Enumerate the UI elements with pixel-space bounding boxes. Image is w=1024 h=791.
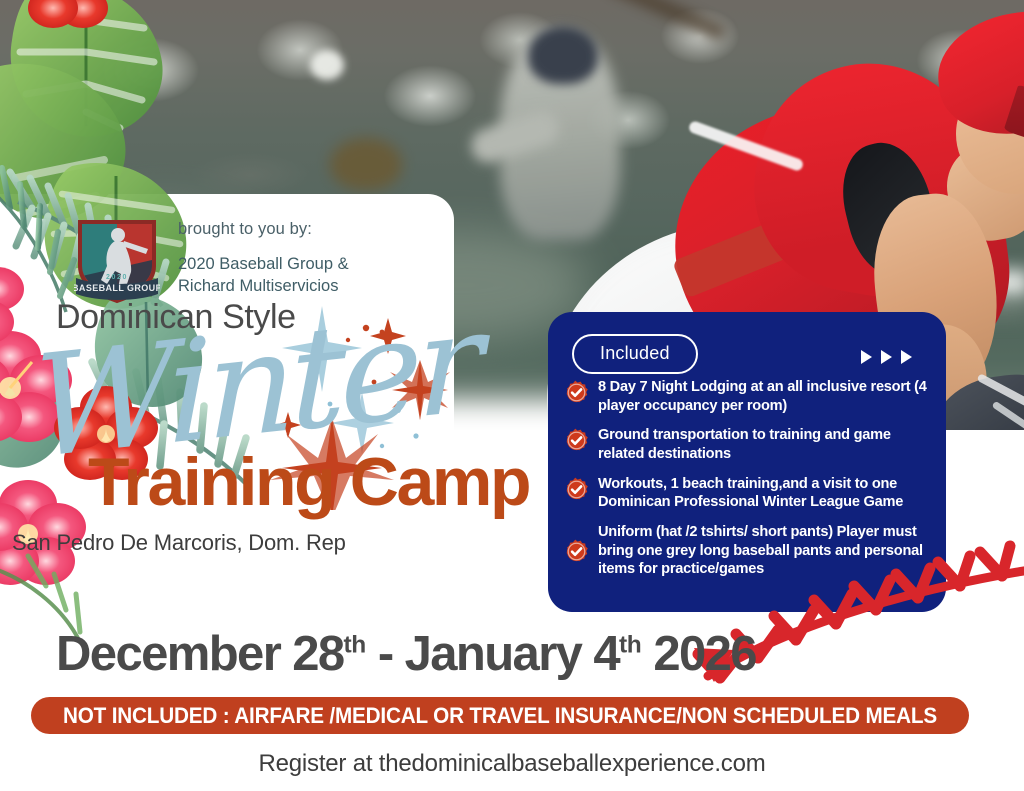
arrow-indicators xyxy=(861,350,912,364)
check-circle-icon xyxy=(564,477,589,502)
check-circle-icon xyxy=(564,380,589,405)
not-included-text: NOT INCLUDED : AIRFARE /MEDICAL OR TRAVE… xyxy=(63,703,937,729)
included-list-item: 8 Day 7 Night Lodging at an all inclusiv… xyxy=(564,378,936,415)
not-included-banner: NOT INCLUDED : AIRFARE /MEDICAL OR TRAVE… xyxy=(31,697,969,734)
date-ordinal-start: th xyxy=(344,632,366,659)
title-main-training-camp: Training Camp xyxy=(88,448,529,516)
included-panel: Included 8 Day 7 Night Lodging at an all… xyxy=(548,312,946,612)
included-list: 8 Day 7 Night Lodging at an all inclusiv… xyxy=(564,378,936,579)
date-year: 2026 xyxy=(653,627,756,681)
included-badge: Included xyxy=(572,334,698,374)
sponsor-name-1: 2020 Baseball Group & xyxy=(178,254,349,276)
date-month-start: December xyxy=(56,627,280,681)
date-day-end: 4 xyxy=(593,627,619,681)
included-list-item: Workouts, 1 beach training,and a visit t… xyxy=(564,475,936,512)
baseball-group-logo: BASEBALL GROUP 2020 xyxy=(74,216,160,308)
sponsor-block: BASEBALL GROUP 2020 brought to you by: 2… xyxy=(74,216,349,308)
hibiscus-flower xyxy=(0,246,24,344)
date-ordinal-end: th xyxy=(619,632,641,659)
included-list-item: Ground transportation to training and ga… xyxy=(564,426,936,463)
logo-shield-icon: BASEBALL GROUP 2020 xyxy=(74,216,160,308)
register-line: Register at thedominicalbaseballexperien… xyxy=(0,750,1024,778)
date-day-start: 28 xyxy=(292,627,343,681)
flyer-canvas: BASEBALL GROUP 2020 brought to you by: 2… xyxy=(0,0,1024,791)
sponsor-name-2: Richard Multiservicios xyxy=(178,276,349,298)
included-list-item: Uniform (hat /2 tshirts/ short pants) Pl… xyxy=(564,523,936,579)
blurred-catcher-glove xyxy=(330,138,402,190)
event-date-line: December 28th - January 4th 2026 xyxy=(56,626,756,682)
check-circle-icon xyxy=(564,539,589,564)
event-location: San Pedro De Marcoris, Dom. Rep xyxy=(12,530,346,556)
check-circle-icon xyxy=(564,428,589,453)
blurred-baseball xyxy=(310,50,344,80)
included-item-text: 8 Day 7 Night Lodging at an all inclusiv… xyxy=(598,378,936,415)
triangle-right-icon xyxy=(901,350,912,364)
svg-text:2020: 2020 xyxy=(106,274,128,281)
date-separator: - xyxy=(378,627,393,681)
brought-to-you-by-label: brought to you by: xyxy=(178,220,349,240)
triangle-right-icon xyxy=(881,350,892,364)
included-item-text: Ground transportation to training and ga… xyxy=(598,426,936,463)
svg-text:BASEBALL GROUP: BASEBALL GROUP xyxy=(74,283,160,293)
included-item-text: Workouts, 1 beach training,and a visit t… xyxy=(598,475,936,512)
sponsor-names: 2020 Baseball Group & Richard Multiservi… xyxy=(178,254,349,298)
triangle-right-icon xyxy=(861,350,872,364)
date-month-end: January xyxy=(405,627,582,681)
included-item-text: Uniform (hat /2 tshirts/ short pants) Pl… xyxy=(598,523,936,579)
title-block: Dominican Style Winter Training Camp xyxy=(56,300,576,478)
